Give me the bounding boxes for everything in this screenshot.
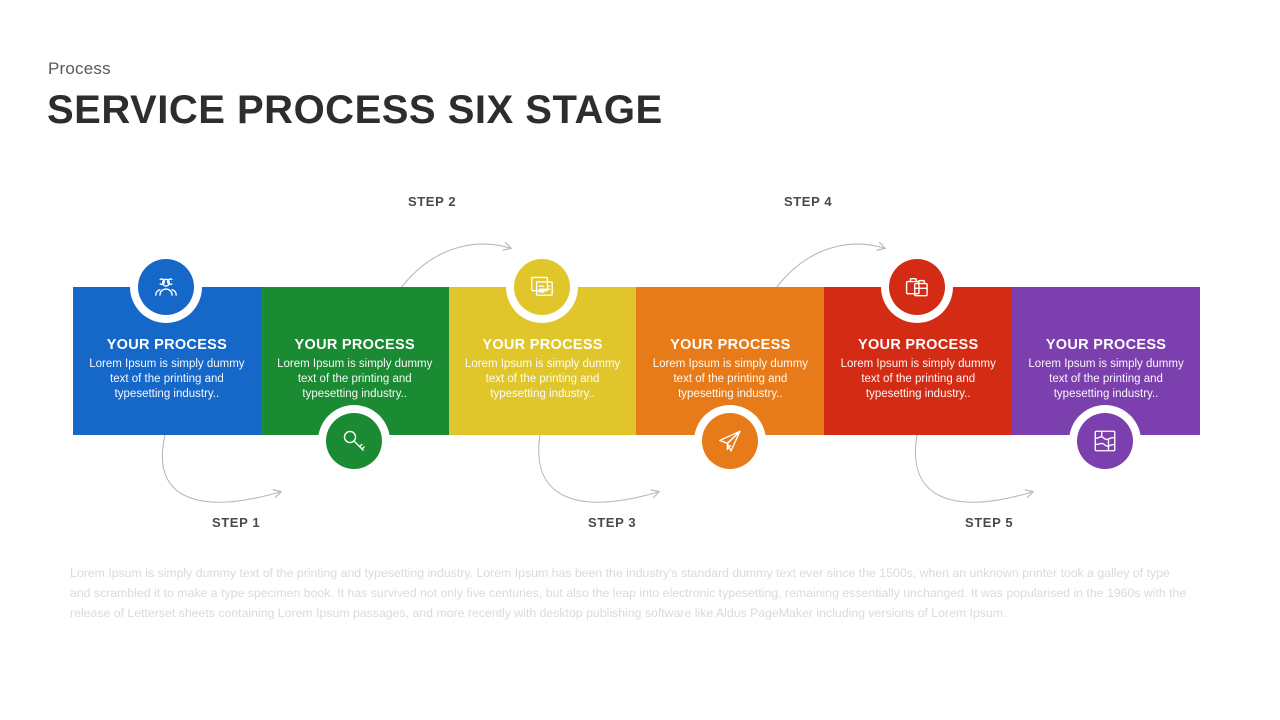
stage-text-4: YOUR PROCESS Lorem Ipsum is simply dummy…: [636, 337, 824, 403]
stage-description: Lorem Ipsum is simply dummy text of the …: [457, 357, 629, 403]
stage-bars: YOUR PROCESS Lorem Ipsum is simply dummy…: [73, 287, 1200, 435]
presentation-board-icon: [529, 274, 555, 300]
footer-paragraph: Lorem Ipsum is simply dummy text of the …: [70, 563, 1190, 623]
stage-heading: YOUR PROCESS: [832, 337, 1004, 353]
slide-canvas: Process SERVICE PROCESS SIX STAGE: [0, 0, 1280, 720]
key-icon: [341, 428, 367, 454]
stage-text-5: YOUR PROCESS Lorem Ipsum is simply dummy…: [824, 337, 1012, 403]
stage-heading: YOUR PROCESS: [269, 337, 441, 353]
stage-node-1[interactable]: [130, 251, 202, 323]
map-icon: [1092, 428, 1118, 454]
stage-node-3[interactable]: [506, 251, 578, 323]
stage-node-6[interactable]: [1069, 405, 1141, 477]
stage-heading: YOUR PROCESS: [1020, 337, 1192, 353]
stage-description: Lorem Ipsum is simply dummy text of the …: [269, 357, 441, 403]
stage-description: Lorem Ipsum is simply dummy text of the …: [81, 357, 253, 403]
step-label-2: STEP 2: [408, 194, 456, 209]
step-label-5: STEP 5: [965, 515, 1013, 530]
briefcase-icon: [904, 274, 930, 300]
stage-heading: YOUR PROCESS: [644, 337, 816, 353]
stage-heading: YOUR PROCESS: [457, 337, 629, 353]
eyebrow-label: Process: [48, 59, 111, 79]
stage-description: Lorem Ipsum is simply dummy text of the …: [1020, 357, 1192, 403]
stage-heading: YOUR PROCESS: [81, 337, 253, 353]
stage-text-6: YOUR PROCESS Lorem Ipsum is simply dummy…: [1012, 337, 1200, 403]
stage-description: Lorem Ipsum is simply dummy text of the …: [644, 357, 816, 403]
stage-node-2[interactable]: [318, 405, 390, 477]
stage-node-5[interactable]: [881, 251, 953, 323]
step-label-1: STEP 1: [212, 515, 260, 530]
page-title: SERVICE PROCESS SIX STAGE: [47, 88, 663, 132]
stage-description: Lorem Ipsum is simply dummy text of the …: [832, 357, 1004, 403]
stage-text-2: YOUR PROCESS Lorem Ipsum is simply dummy…: [261, 337, 449, 403]
stage-node-4[interactable]: [694, 405, 766, 477]
paper-plane-icon: [717, 428, 743, 454]
step-label-4: STEP 4: [784, 194, 832, 209]
stage-text-3: YOUR PROCESS Lorem Ipsum is simply dummy…: [449, 337, 637, 403]
step-label-3: STEP 3: [588, 515, 636, 530]
stage-text-1: YOUR PROCESS Lorem Ipsum is simply dummy…: [73, 337, 261, 403]
people-group-icon: [153, 274, 179, 300]
process-diagram: YOUR PROCESS Lorem Ipsum is simply dummy…: [0, 170, 1280, 550]
